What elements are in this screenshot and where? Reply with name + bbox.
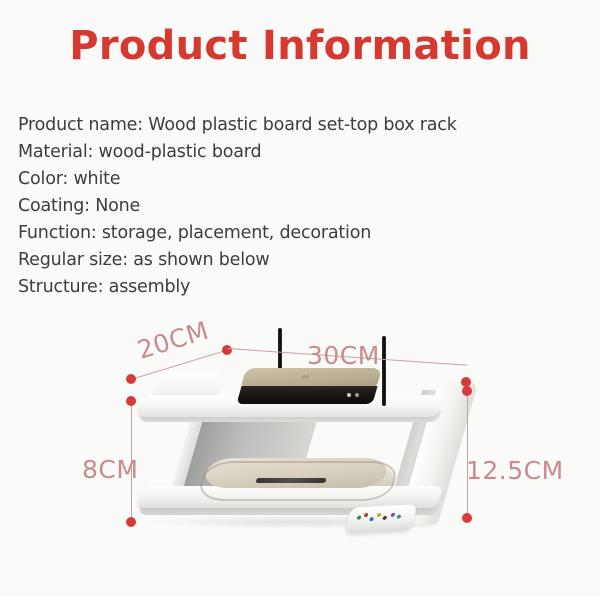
set-top-box-logo-icon: ∾: [300, 374, 318, 382]
spec-line-color: Color: white: [18, 166, 578, 193]
set-top-box-led-2: [355, 393, 359, 397]
set-top-box: ∾: [243, 368, 379, 402]
spec-line-function: Function: storage, placement, decoration: [18, 220, 578, 247]
spec-line-regular-size: Regular size: as shown below: [18, 247, 578, 274]
remote-buttons: [355, 510, 404, 523]
remote-control: [345, 504, 418, 533]
product-spec-list: Product name: Wood plastic board set-top…: [18, 112, 578, 301]
spec-line-coating: Coating: None: [18, 193, 578, 220]
page-title: Product Information: [0, 26, 600, 66]
spec-line-product-name: Product name: Wood plastic board set-top…: [18, 112, 578, 139]
router-led-strip: [255, 478, 326, 483]
set-top-box-led-1: [347, 393, 351, 397]
antenna-right: [382, 336, 386, 406]
spec-line-material: Material: wood-plastic board: [18, 139, 578, 166]
shelf-rack-illustration: ∾: [0, 310, 600, 596]
product-photo: ∾: [0, 310, 600, 596]
wireless-router: [198, 458, 394, 508]
spec-line-structure: Structure: assembly: [18, 274, 578, 301]
